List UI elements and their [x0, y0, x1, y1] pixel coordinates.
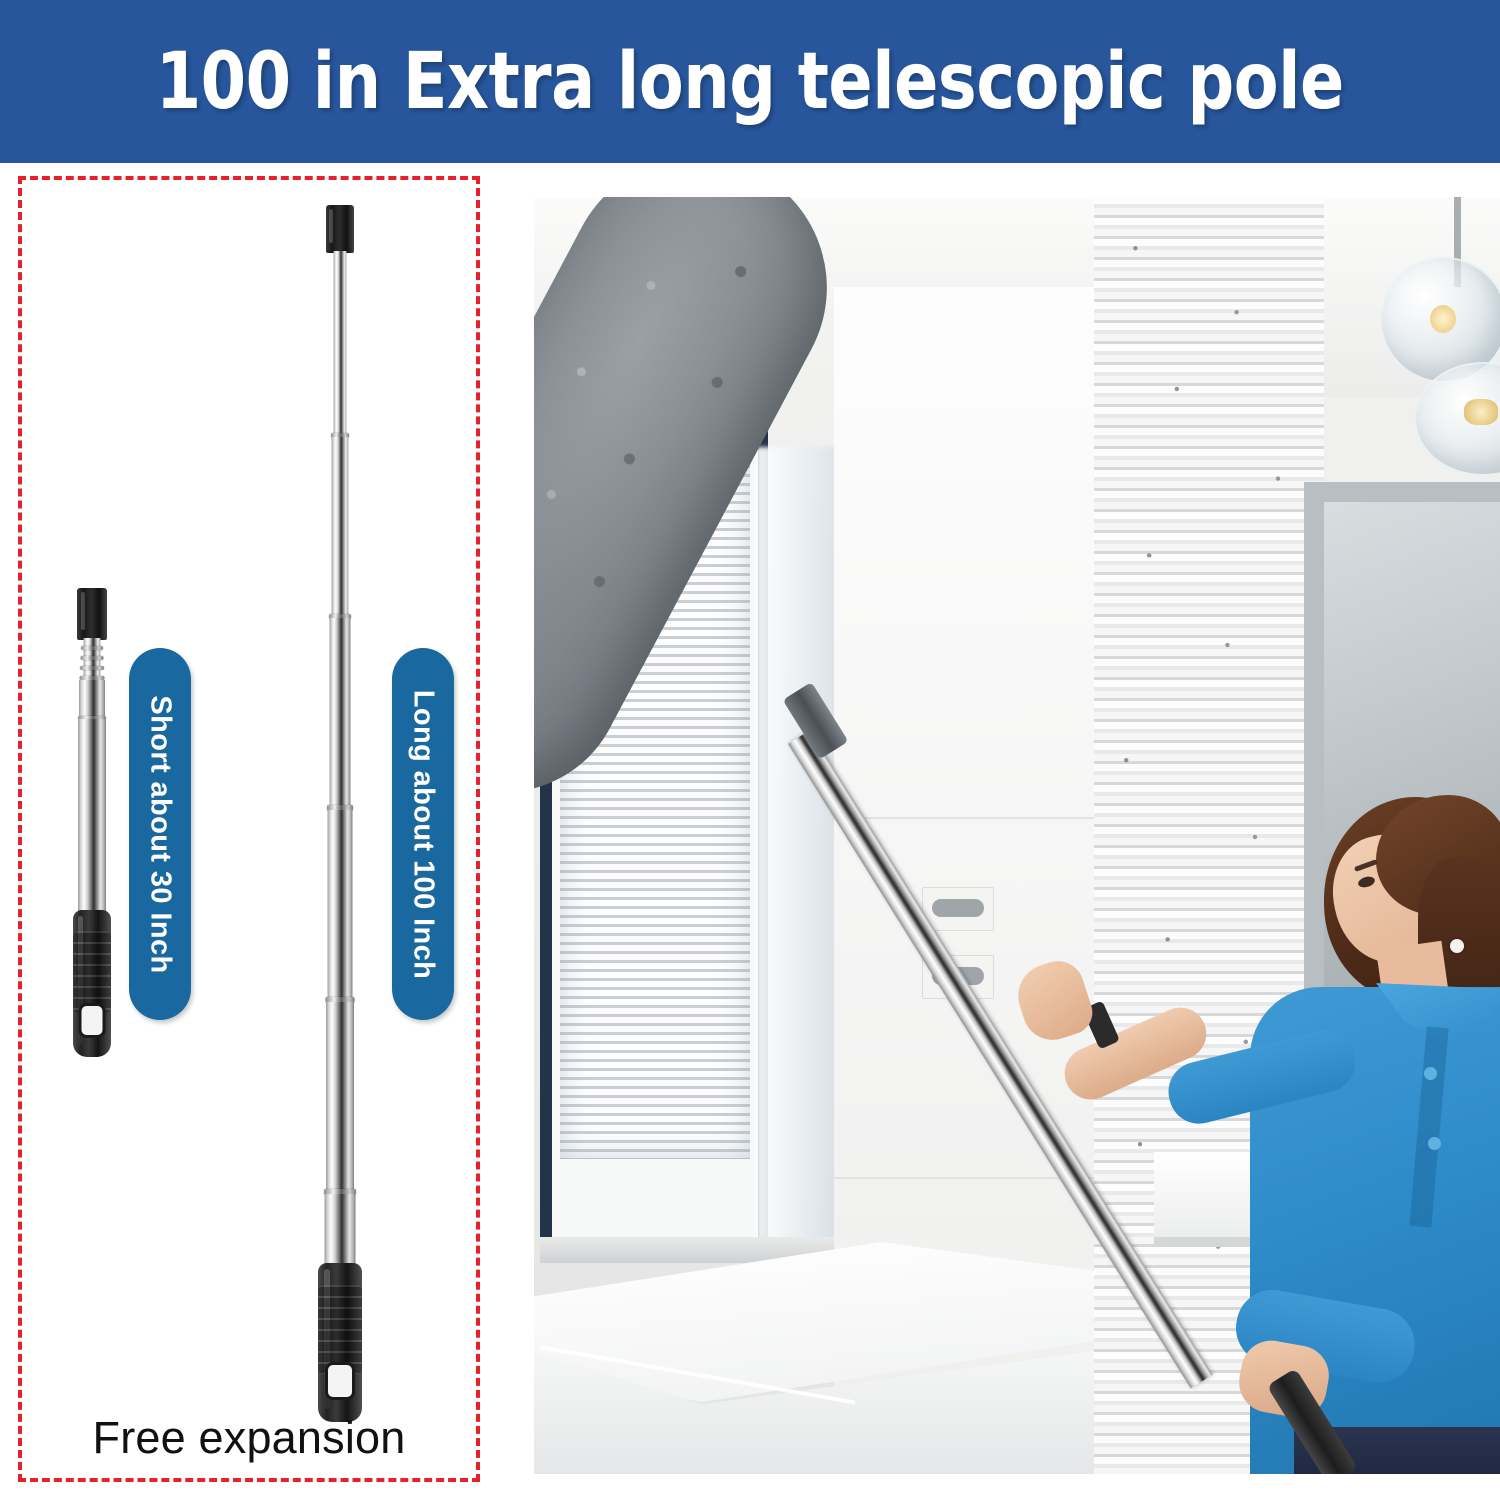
short-pole-shaft-lower — [78, 719, 106, 914]
long-pole-grip-texture — [318, 1285, 362, 1374]
short-pole-joint-2 — [81, 656, 104, 660]
long-pole-hanging-loop — [328, 1365, 352, 1397]
woman-shirt-button-2 — [1428, 1137, 1441, 1150]
long-pole-segment-3 — [330, 618, 351, 808]
lifestyle-photo — [534, 197, 1500, 1474]
woman-shirt-button-1 — [1424, 1067, 1437, 1080]
light-bulb-filament-lower — [1464, 399, 1498, 425]
long-pole-segment-2 — [332, 437, 349, 617]
short-pole-label-text: Short about 30 Inch — [144, 695, 177, 973]
long-pole-label-pill: Long about 100 Inch — [392, 648, 454, 1020]
short-pole-label-pill: Short about 30 Inch — [129, 648, 191, 1020]
short-pole-illustration — [68, 588, 116, 1057]
short-pole-hanging-loop — [82, 1006, 103, 1035]
window-light-glow — [756, 447, 842, 1247]
long-pole-illustration — [312, 205, 368, 1422]
light-bulb-filament-upper — [1430, 305, 1456, 333]
short-pole-joint-3 — [80, 666, 104, 670]
page-title: 100 in Extra long telescopic pole — [156, 37, 1344, 127]
short-pole-grip-texture — [73, 931, 111, 1013]
long-pole-segment-5 — [326, 1002, 354, 1192]
short-pole-joint-1 — [81, 646, 103, 650]
long-pole-segment-4 — [328, 810, 353, 1000]
shower-valve-handle-1 — [932, 899, 984, 917]
long-pole-grip-handle — [318, 1263, 362, 1422]
header-banner: 100 in Extra long telescopic pole — [0, 0, 1500, 163]
short-pole-tip-connector — [77, 588, 107, 640]
long-pole-label-text: Long about 100 Inch — [407, 689, 440, 979]
short-pole-shaft-mid — [79, 680, 105, 720]
woman-earring — [1450, 939, 1464, 953]
free-expansion-caption: Free expansion — [18, 1412, 480, 1464]
long-pole-segment-1 — [334, 251, 347, 436]
tile-grout-line-1 — [834, 817, 1134, 819]
long-pole-segment-6 — [325, 1194, 356, 1266]
long-pole-tip-connector — [326, 205, 354, 253]
